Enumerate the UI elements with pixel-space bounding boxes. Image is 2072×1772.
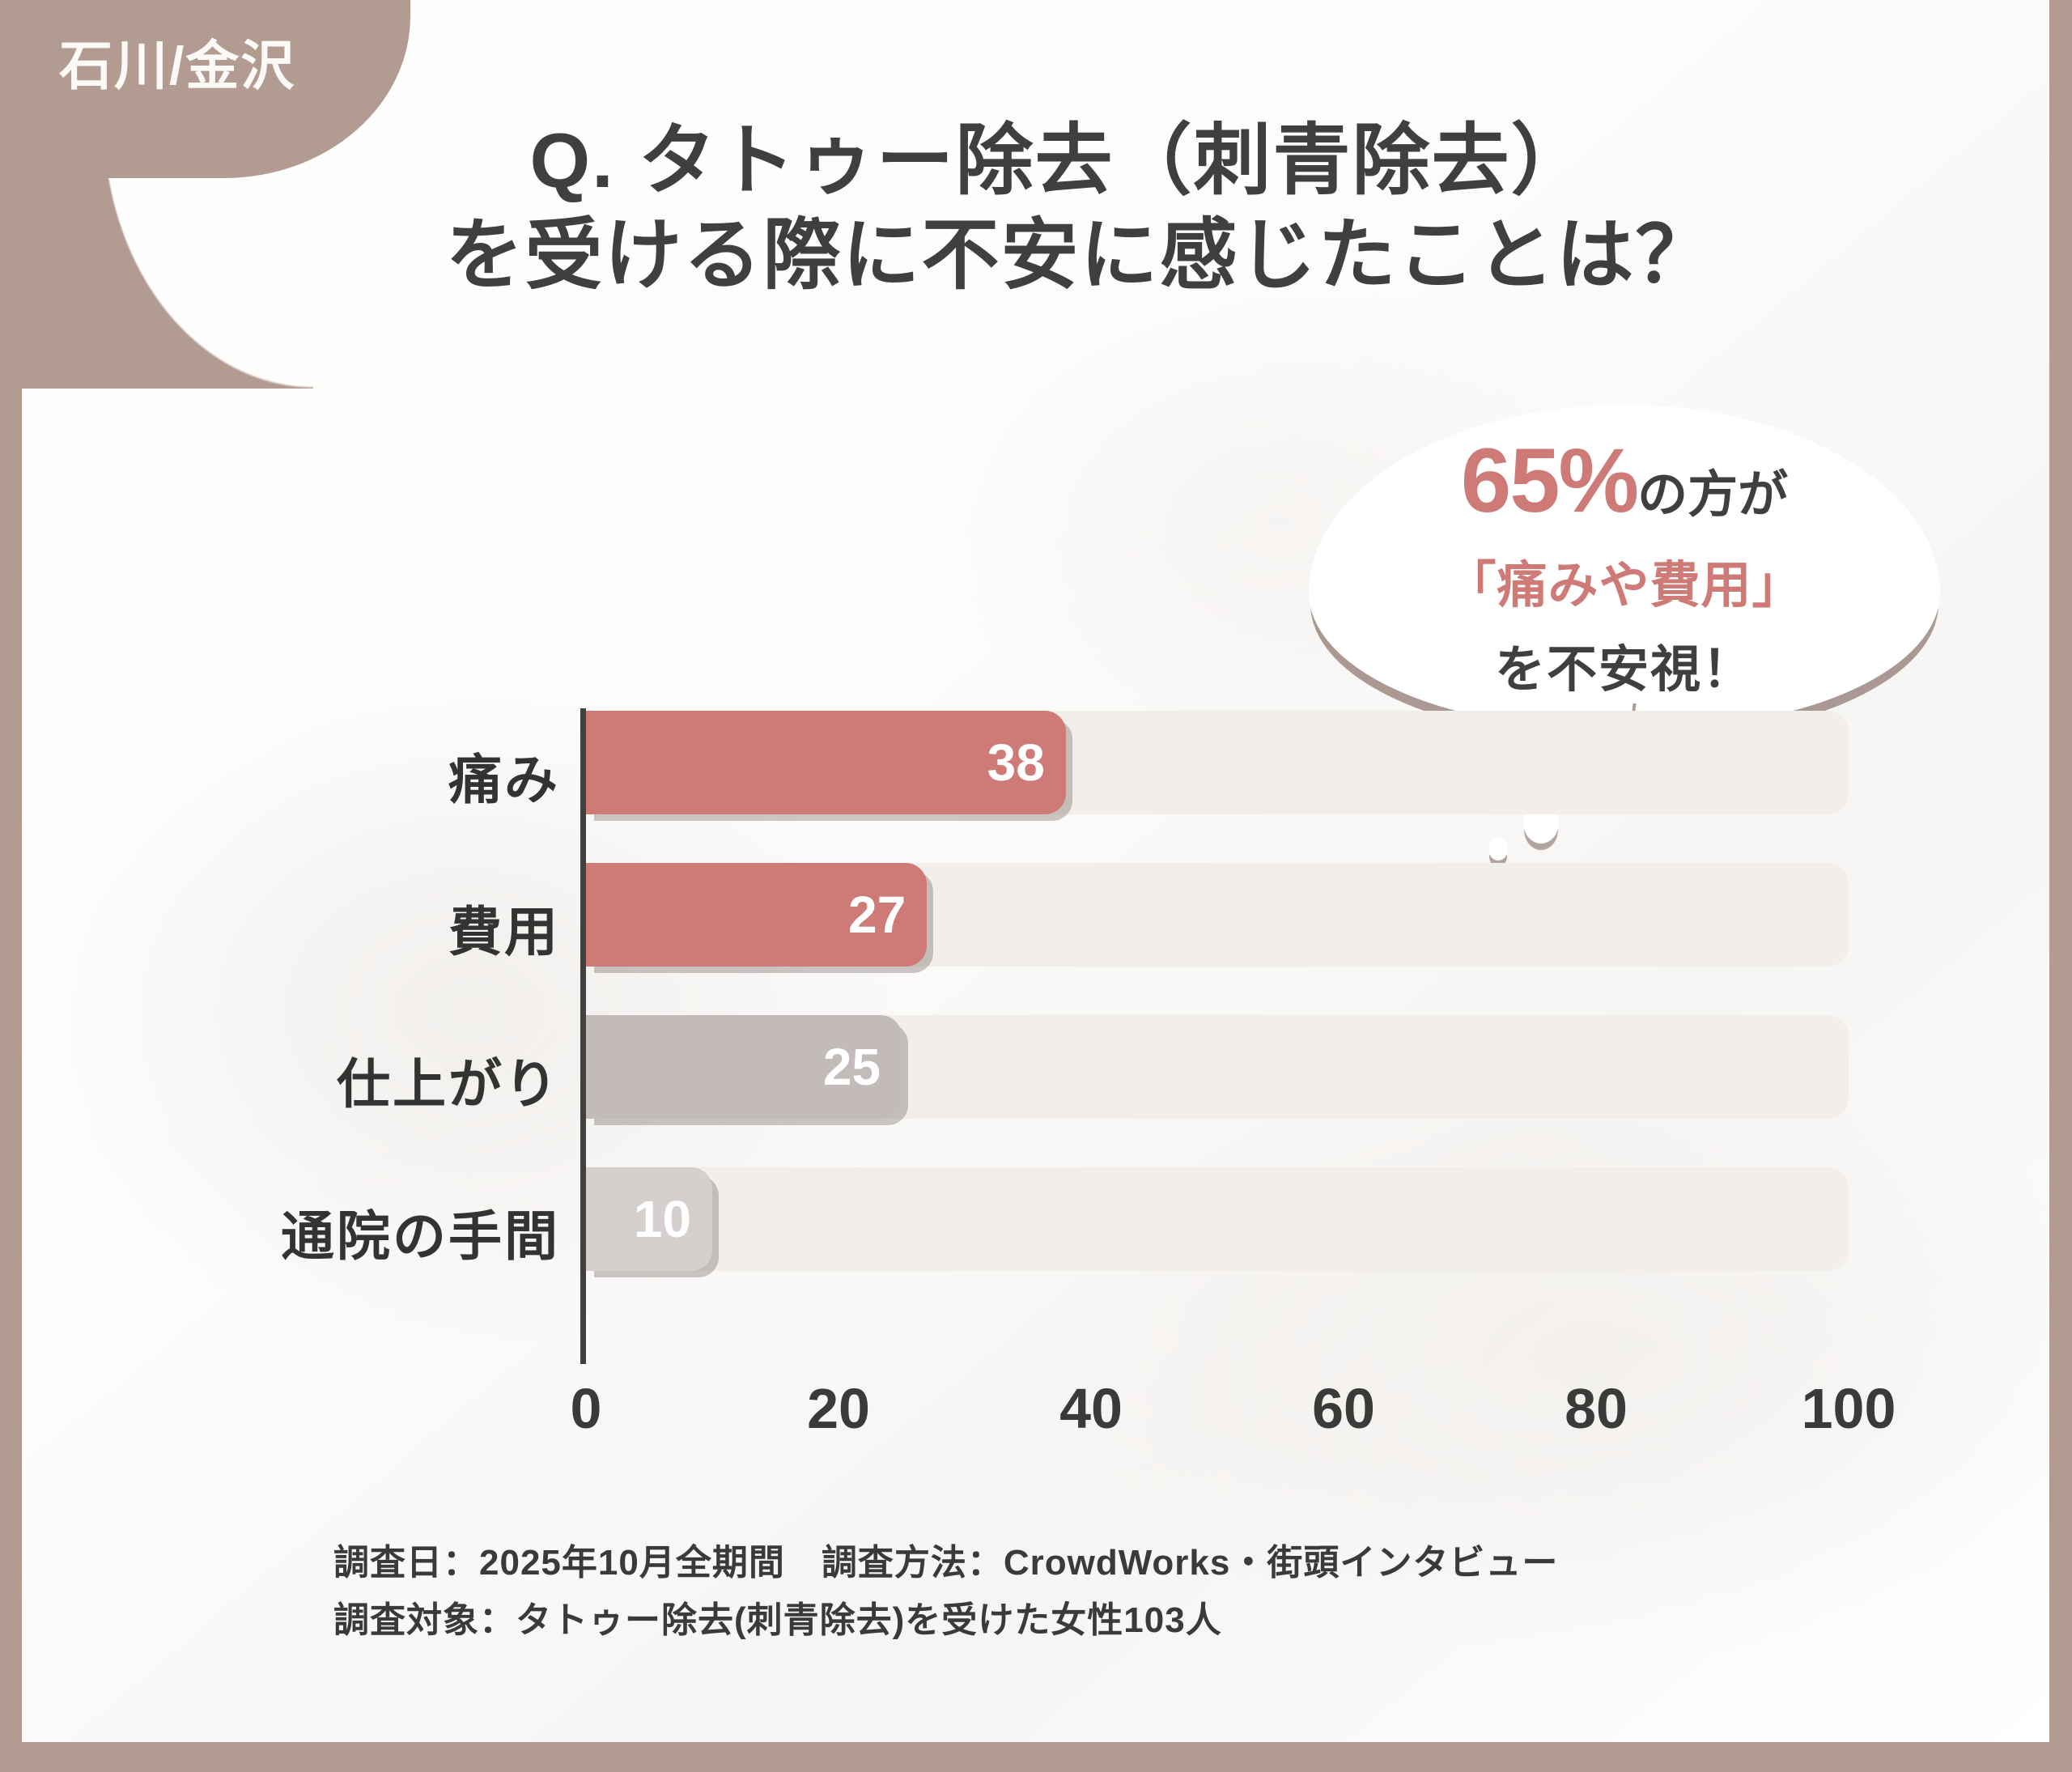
bar-fill: 10 — [586, 1167, 712, 1271]
bar-value-label: 38 — [987, 733, 1045, 793]
bar-fill: 38 — [586, 711, 1066, 814]
bar-category-label: 費用 — [448, 889, 560, 967]
callout-percent-suffix: の方が — [1637, 467, 1788, 523]
page-title-line2: を受ける際に不安に感じたことは？ — [22, 208, 2049, 303]
x-axis-tick: 0 — [571, 1376, 602, 1441]
survey-footnote-line2: 調査対象：タトゥー除去(刺青除去)を受けた女性103人 — [333, 1591, 1558, 1649]
bar-rows: 痛み38費用27仕上がり25通院の手間10 — [22, 696, 2049, 1305]
page-title: Q. タトゥー除去（刺青除去） を受ける際に不安に感じたことは？ — [22, 113, 2049, 303]
bar-row: 費用27 — [22, 848, 2049, 1001]
bar-row: 仕上がり25 — [22, 1001, 2049, 1153]
region-badge-label: 石川/金沢 — [59, 23, 295, 100]
callout-line3: を不安視！ — [1309, 628, 1940, 701]
x-axis-tick: 40 — [1059, 1376, 1123, 1441]
bar-value-label: 10 — [634, 1189, 691, 1249]
bar-category-label: 痛み — [448, 737, 560, 814]
bar-chart: 痛み38費用27仕上がり25通院の手間10 — [22, 696, 2049, 1409]
bar-row: 痛み38 — [22, 696, 2049, 848]
bar-category-label: 仕上がり — [337, 1041, 560, 1119]
x-axis-tick: 60 — [1312, 1376, 1375, 1441]
x-axis-tick: 80 — [1565, 1376, 1628, 1441]
x-axis-tick: 20 — [807, 1376, 870, 1441]
callout-percent: 65% — [1461, 430, 1637, 531]
bar-fill: 27 — [586, 863, 927, 967]
x-axis-tick: 100 — [1802, 1376, 1896, 1441]
survey-footnote: 調査日：2025年10月全期間 調査方法：CrowdWorks・街頭インタビュー… — [333, 1534, 1558, 1650]
callout-line1: 65%の方が — [1309, 436, 1940, 526]
survey-footnote-line1: 調査日：2025年10月全期間 調査方法：CrowdWorks・街頭インタビュー — [333, 1534, 1558, 1591]
bar-track — [586, 1167, 1849, 1271]
x-axis: 020406080100 — [22, 1376, 2049, 1473]
infographic-card: 石川/金沢 Q. タトゥー除去（刺青除去） を受ける際に不安に感じたことは？ 6… — [22, 0, 2049, 1742]
bar-fill: 25 — [586, 1015, 902, 1119]
bar-value-label: 27 — [848, 885, 906, 945]
page-title-line1: Q. タトゥー除去（刺青除去） — [22, 113, 2049, 208]
bar-value-label: 25 — [823, 1037, 881, 1097]
callout-line2: 「痛みや費用」 — [1309, 544, 1940, 617]
callout-bubble-text: 65%の方が 「痛みや費用」 を不安視！ — [1309, 436, 1940, 701]
bar-category-label: 通院の手間 — [281, 1193, 560, 1271]
bar-row: 通院の手間10 — [22, 1153, 2049, 1305]
